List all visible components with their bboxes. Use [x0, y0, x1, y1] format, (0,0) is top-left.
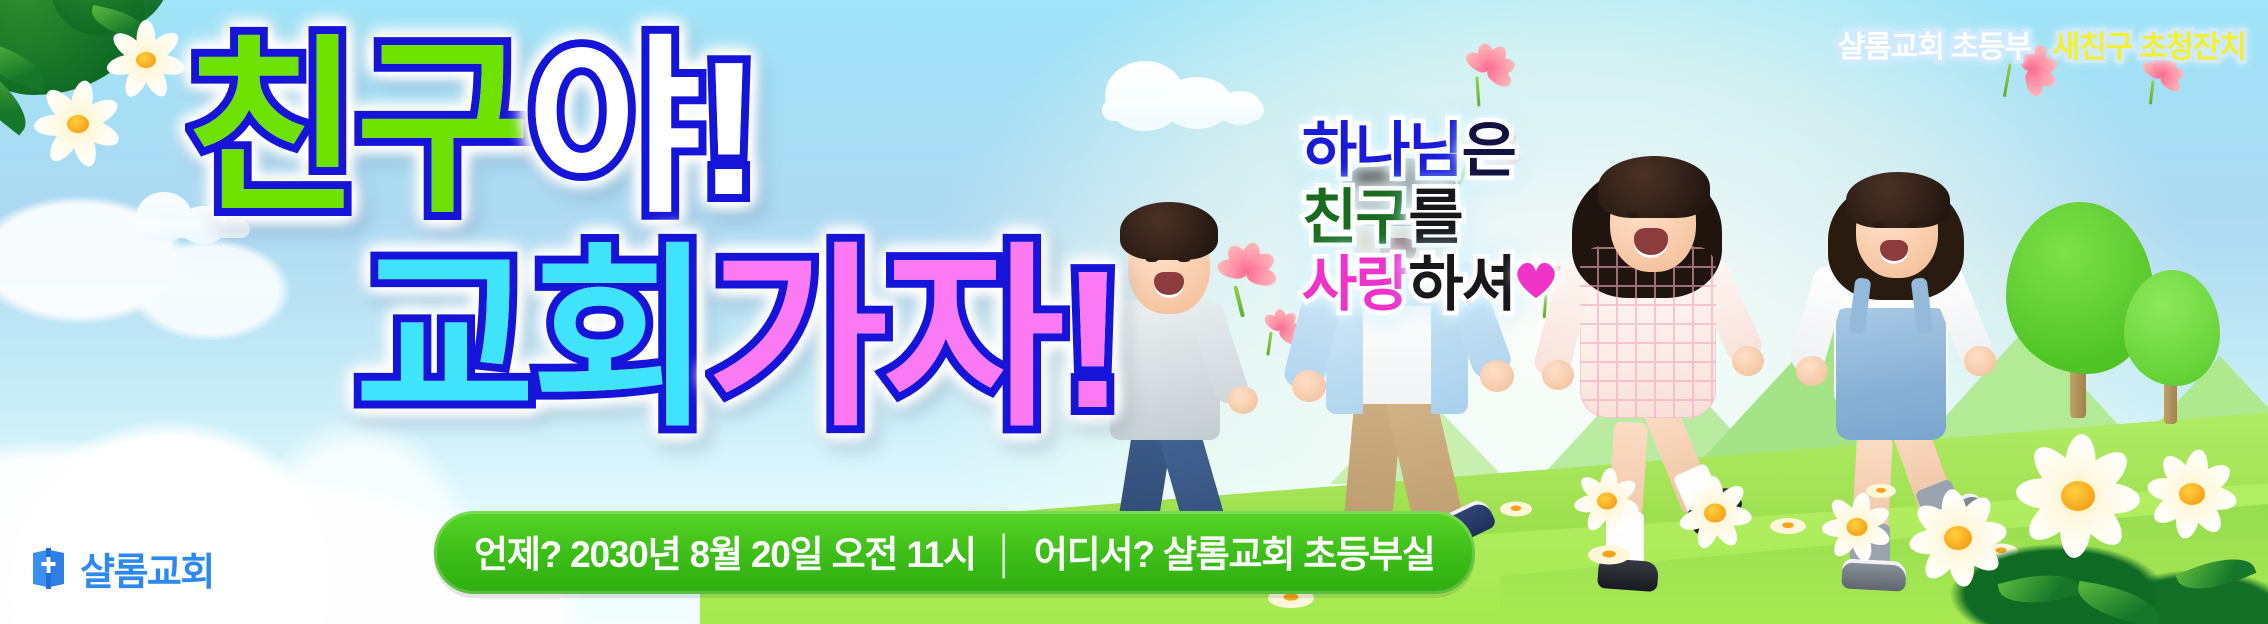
verse-line-2: 친구를: [1302, 187, 1515, 248]
daisy-flower-icon: [2012, 430, 2144, 562]
daisy-flower-icon: [32, 78, 124, 170]
daisy-flower-icon: [1906, 486, 2010, 590]
headline-line-1: 친구야!: [185, 34, 757, 224]
event-info-pill: 언제? 2030년 8월 20일 오전 11시│어디서? 샬롬교회 초등부실: [434, 511, 1475, 594]
verse-particle-reul: 를: [1408, 187, 1461, 248]
headline-word-gyohoe: 교회: [355, 242, 708, 438]
headline-word-chingu: 친구: [185, 34, 527, 224]
headline-word-ya: 야!: [527, 34, 757, 224]
verse-line-1: 하나님은: [1302, 120, 1515, 181]
event-when: 언제? 2030년 8월 20일 오전 11시: [474, 534, 976, 575]
open-bible-cross-icon: [30, 548, 67, 589]
kicker-part1: 샬롬교회 초등부: [1838, 22, 2032, 66]
kicker-part2: 새친구 초청잔치: [2052, 22, 2246, 66]
promo-banner: 샬롬교회 초등부 새친구 초청잔치 친구야! 교회가자! 하나님은 친구를 사랑…: [0, 0, 2268, 624]
daisy-flower-icon: [1676, 474, 1754, 552]
kicker-text: 샬롬교회 초등부 새친구 초청잔치: [1838, 22, 2246, 66]
info-separator: │: [976, 534, 1034, 575]
verse-word-chingu: 친구: [1302, 187, 1408, 248]
verse-particle-eun: 은: [1462, 120, 1515, 181]
daisy-flower-icon: [1770, 518, 1806, 534]
headline-word-gaja: 가자!: [708, 242, 1122, 438]
verse-line-3: 사랑하셔: [1302, 254, 1515, 315]
daisy-flower-icon: [1500, 501, 1532, 516]
church-logo[interactable]: 샬롬교회: [30, 541, 214, 596]
headline-line-2: 교회가자!: [355, 242, 1122, 438]
daisy-flower-icon: [2144, 446, 2240, 542]
church-logo-text: 샬롬교회: [80, 541, 214, 596]
event-where: 어디서? 샬롬교회 초등부실: [1034, 534, 1435, 575]
verse-block: 하나님은 친구를 사랑하셔: [1302, 120, 1515, 322]
daisy-flower-icon: [1820, 490, 1894, 564]
heart-icon: [1511, 256, 1561, 302]
daisy-flower-icon: [1588, 545, 1630, 564]
tree-crown: [2124, 270, 2220, 386]
verse-word-hasyeo: 하셔: [1408, 254, 1514, 315]
daisy-flower-icon: [1572, 466, 1642, 536]
headline-block: 친구야! 교회가자!: [185, 34, 1245, 504]
verse-word-hananim: 하나님: [1302, 120, 1462, 181]
verse-word-sarang: 사랑: [1302, 254, 1408, 315]
